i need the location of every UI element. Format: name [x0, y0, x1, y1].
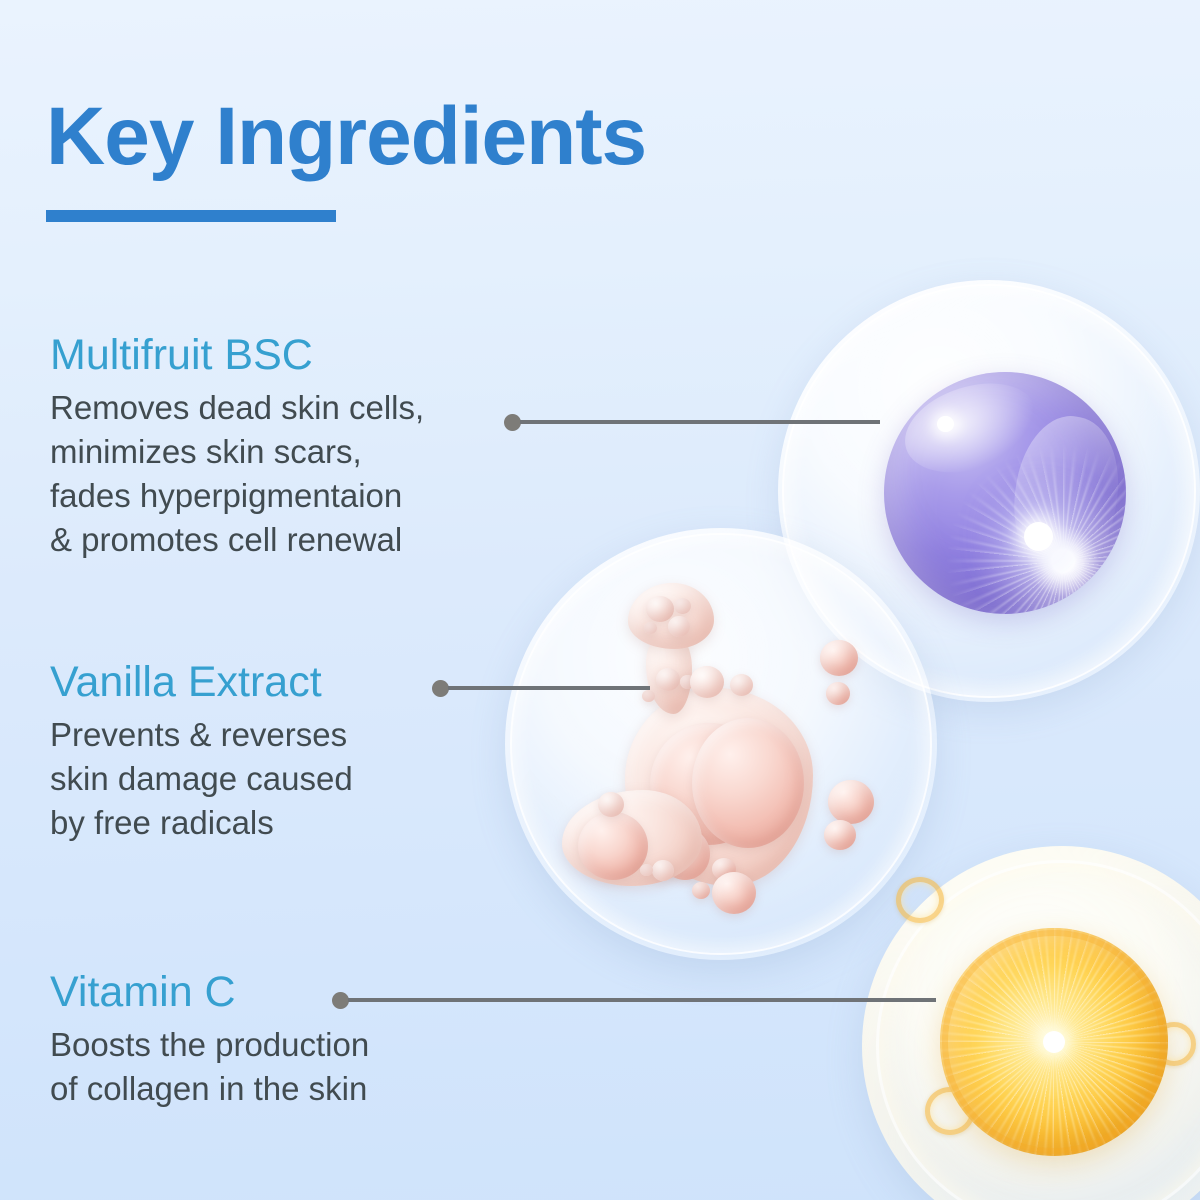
pink-droplet-inner-left: [650, 723, 768, 845]
connector-rule: [520, 420, 880, 424]
pink-bubble-neck-1: [656, 668, 680, 691]
pink-satellite-3: [828, 780, 874, 824]
ingredient-description: Boosts the production of collagen in the…: [50, 1023, 369, 1111]
pink-droplet-inner-right: [692, 718, 804, 848]
pink-bubble-cap-1: [646, 596, 674, 622]
pink-bubble-cap-4: [644, 622, 657, 634]
glass-disc-vitamin-c: [862, 846, 1200, 1200]
connector-dot-icon: [504, 414, 521, 431]
pink-bubble-cap-2: [674, 598, 691, 614]
pink-bubble-secondary-2: [640, 864, 653, 876]
pink-satellite-6: [692, 882, 710, 899]
citrus-rays-glow: [940, 928, 1168, 1156]
connector-dot-icon: [332, 992, 349, 1009]
glass-disc-vanilla: [505, 528, 937, 960]
connector-dot-icon: [432, 680, 449, 697]
pink-bubble-cap-3: [668, 616, 690, 637]
pink-bubble-neck-2: [680, 675, 695, 689]
ingredient-block-vanilla-extract: Vanilla Extract Prevents & reverses skin…: [50, 660, 353, 845]
ingredient-description: Prevents & reverses skin damage caused b…: [50, 713, 353, 845]
ingredient-block-multifruit-bsc: Multifruit BSC Removes dead skin cells, …: [50, 333, 424, 562]
pink-bubble-mid-1: [690, 666, 724, 698]
citrus-ring-bubble-top: [896, 877, 944, 923]
light-core: [1043, 1031, 1066, 1054]
ingredient-description: Removes dead skin cells, minimizes skin …: [50, 386, 424, 562]
pink-bubble-lower-2: [712, 858, 736, 880]
connector-line-vanilla-extract: [432, 680, 650, 696]
ingredient-block-vitamin-c: Vitamin C Boosts the production of colla…: [50, 970, 369, 1111]
ingredient-name: Vitamin C: [50, 970, 369, 1015]
pink-droplet-neck: [646, 630, 692, 714]
sphere-facet: [1002, 408, 1126, 583]
ingredient-name: Multifruit BSC: [50, 333, 424, 378]
specular-highlight: [937, 416, 954, 433]
purple-sphere-icon: [884, 372, 1126, 614]
pink-droplet-secondary: [562, 790, 702, 886]
pink-droplet-top-cap: [628, 583, 714, 649]
citrus-ring-bubble-right: [1152, 1022, 1196, 1066]
connector-rule: [448, 686, 650, 690]
pink-bubble-secondary-1: [652, 860, 674, 881]
connector-line-multifruit-bsc: [504, 414, 880, 430]
ingredient-name: Vanilla Extract: [50, 660, 353, 705]
pink-satellite-5: [712, 872, 756, 914]
glass-disc-multifruit: [778, 280, 1200, 702]
pink-satellite-4: [824, 820, 856, 850]
sphere-sheen: [894, 372, 1048, 488]
starburst-glow-icon: [947, 445, 1126, 614]
pink-bubble-secondary-top: [598, 792, 624, 817]
pink-bubble-lower-1: [660, 828, 710, 880]
pink-bubble-mid-2: [730, 674, 753, 696]
pink-droplet-secondary-core: [578, 812, 648, 880]
page-title: Key Ingredients: [46, 96, 646, 178]
citrus-rim: [942, 930, 1166, 1154]
connector-line-vitamin-c: [332, 992, 936, 1008]
pink-satellite-1: [820, 640, 858, 676]
key-ingredients-infographic: Key Ingredients Multifruit BSC Removes d…: [0, 0, 1200, 1200]
connector-rule: [348, 998, 936, 1002]
citrus-drop-icon: [940, 928, 1168, 1156]
pink-satellite-2: [826, 682, 850, 705]
light-core: [1024, 522, 1053, 551]
pink-droplet-main: [625, 688, 813, 886]
title-underline: [46, 210, 336, 222]
citrus-ring-bubble-bottom: [925, 1087, 975, 1135]
